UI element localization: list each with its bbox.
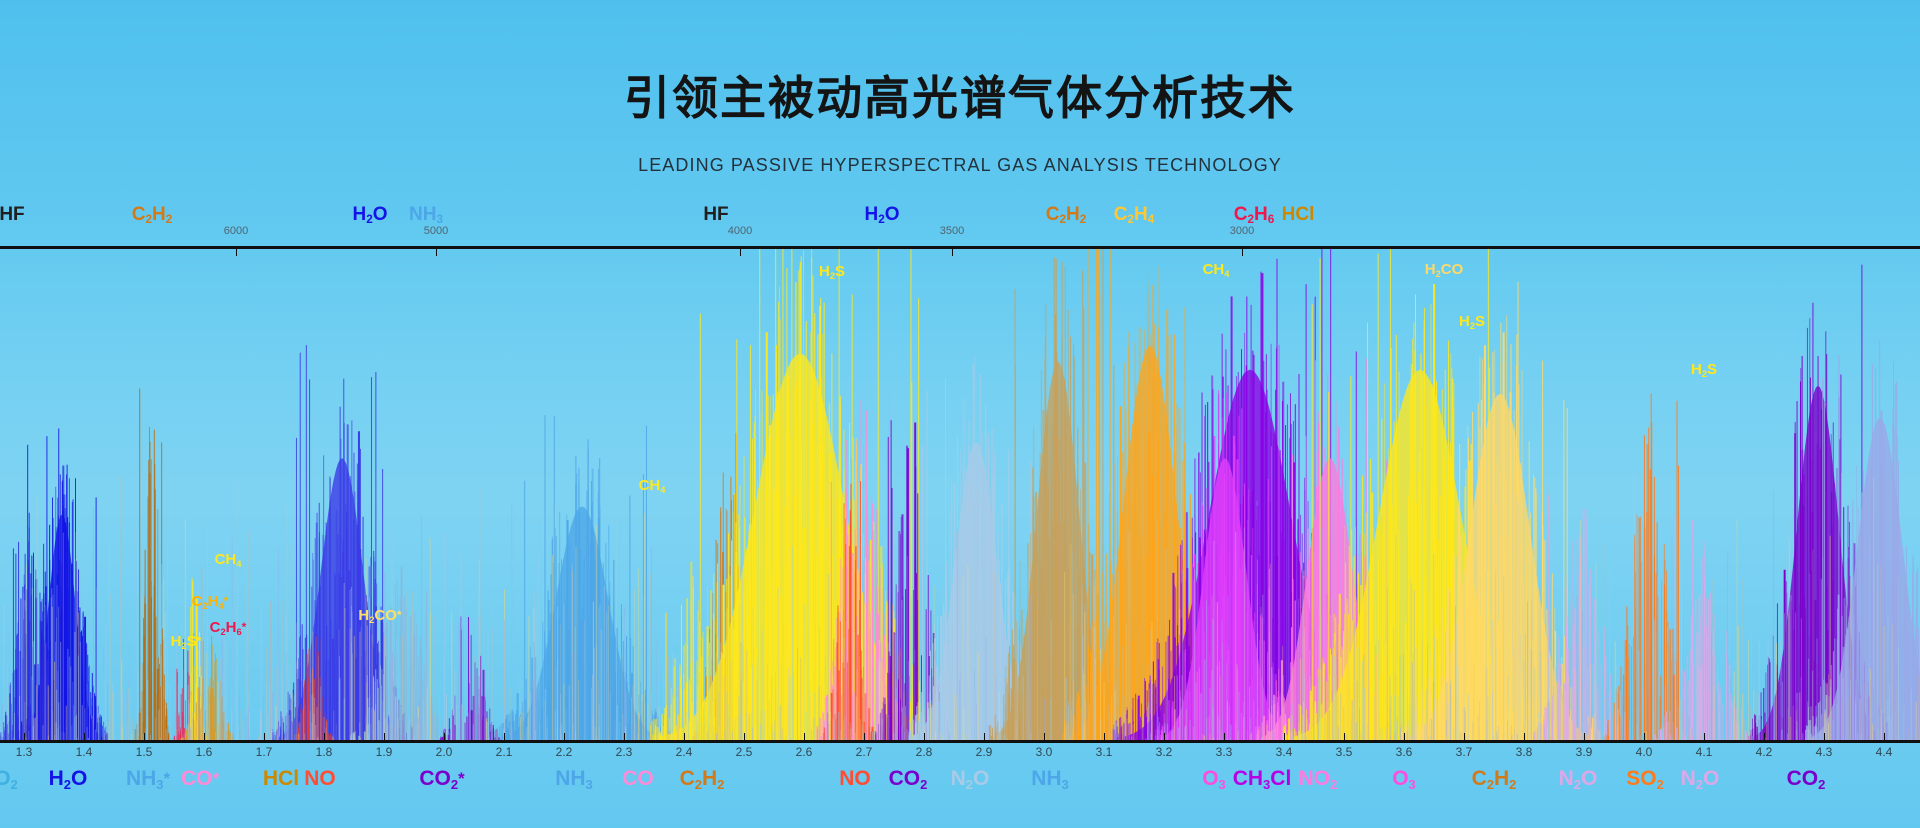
gas-label-h2co: H2CO xyxy=(1425,262,1464,277)
bottom-tick-label: 1.5 xyxy=(136,745,153,759)
gas-label-ch4: CH4 xyxy=(215,552,242,567)
bottom-tick-mark xyxy=(204,733,205,740)
top-tick-label: 6000 xyxy=(224,225,248,237)
bottom-tick-mark xyxy=(444,733,445,740)
gas-label-hcl: HCl xyxy=(1282,205,1315,224)
gas-label-co: CO* xyxy=(181,768,219,789)
bottom-tick-label: 3.7 xyxy=(1456,745,1473,759)
gas-label-no: NO xyxy=(839,768,871,789)
bottom-tick-label: 4.0 xyxy=(1636,745,1653,759)
bottom-tick-label: 4.1 xyxy=(1696,745,1713,759)
bottom-tick-label: 1.8 xyxy=(316,745,333,759)
bottom-tick-mark xyxy=(684,733,685,740)
bottom-tick-label: 2.1 xyxy=(496,745,513,759)
top-tick-label: 5000 xyxy=(424,225,448,237)
bottom-tick-label: 2.2 xyxy=(556,745,573,759)
bottom-tick-mark xyxy=(1824,733,1825,740)
bottom-tick-label: 2.8 xyxy=(916,745,933,759)
gas-label-co: CO xyxy=(622,768,654,789)
gas-label-c2h2: C2H2 xyxy=(132,205,173,224)
bottom-tick-label: 1.4 xyxy=(76,745,93,759)
gas-label-n2o: N2O xyxy=(1681,768,1720,789)
bottom-tick-mark xyxy=(1224,733,1225,740)
gas-label-h2o: H2O xyxy=(352,205,387,224)
page-title: 引领主被动高光谱气体分析技术 xyxy=(0,62,1920,128)
bottom-tick-label: 2.9 xyxy=(976,745,993,759)
gas-label-nh3: NH3* xyxy=(126,768,170,789)
spectrum-traces xyxy=(0,249,1920,740)
hyperspectral-gas-banner: 引领主被动高光谱气体分析技术 LEADING PASSIVE HYPERSPEC… xyxy=(0,0,1920,828)
bottom-tick-mark xyxy=(1044,733,1045,740)
gas-label-nh3: NH3 xyxy=(1031,768,1069,789)
bottom-tick-label: 2.7 xyxy=(856,745,873,759)
page-subtitle: LEADING PASSIVE HYPERSPECTRAL GAS ANALYS… xyxy=(0,155,1920,176)
gas-label-c2h6: C2H6 xyxy=(1234,205,1275,224)
bottom-tick-mark xyxy=(804,733,805,740)
bottom-tick-label: 2.5 xyxy=(736,745,753,759)
gas-label-o3: O3 xyxy=(1392,768,1416,789)
gas-label-co2: CO2* xyxy=(419,768,464,789)
gas-label-c2h6: C2H6* xyxy=(210,620,247,635)
bottom-tick-label: 3.6 xyxy=(1396,745,1413,759)
bottom-tick-label: 1.6 xyxy=(196,745,213,759)
bottom-tick-label: 4.3 xyxy=(1816,745,1833,759)
gas-label-n2o: N2O xyxy=(1559,768,1598,789)
gas-label-co2: CO2 xyxy=(889,768,928,789)
bottom-tick-label: 3.0 xyxy=(1036,745,1053,759)
bottom-tick-mark xyxy=(1404,733,1405,740)
bottom-tick-label: 2.0 xyxy=(436,745,453,759)
gas-label-no: NO xyxy=(304,768,336,789)
bottom-tick-mark xyxy=(1284,733,1285,740)
gas-label-so2: SO2 xyxy=(1626,768,1664,789)
gas-label-o3: O3 xyxy=(1202,768,1226,789)
bottom-tick-mark xyxy=(1164,733,1165,740)
bottom-tick-mark xyxy=(504,733,505,740)
bottom-tick-mark xyxy=(1644,733,1645,740)
gas-label-hf: HF xyxy=(703,205,728,224)
bottom-tick-mark xyxy=(624,733,625,740)
bottom-tick-label: 1.7 xyxy=(256,745,273,759)
gas-label-co2: CO2 xyxy=(1787,768,1826,789)
bottom-tick-label: 3.1 xyxy=(1096,745,1113,759)
gas-label-h2co: H2CO* xyxy=(358,608,401,623)
bottom-tick-label: 3.9 xyxy=(1576,745,1593,759)
gas-label-c2h2: C2H2 xyxy=(1046,205,1087,224)
bottom-tick-label: 4.4 xyxy=(1876,745,1893,759)
gas-label-c2h2: C2H2 xyxy=(1472,768,1517,789)
bottom-tick-label: 3.3 xyxy=(1216,745,1233,759)
gas-label-nh3: NH3 xyxy=(555,768,593,789)
gas-label-ch4: CH4 xyxy=(639,478,666,493)
gas-label-c2h4: C2H4 xyxy=(1114,205,1155,224)
bottom-tick-label: 3.5 xyxy=(1336,745,1353,759)
gas-label-h2s: H2S xyxy=(1459,314,1485,329)
gas-label-nh3: NH3 xyxy=(409,205,443,224)
spectrum-plot xyxy=(0,249,1920,740)
bottom-tick-label: 2.4 xyxy=(676,745,693,759)
bottom-tick-mark xyxy=(1884,733,1885,740)
bottom-tick-label: 2.6 xyxy=(796,745,813,759)
bottom-tick-label: 2.3 xyxy=(616,745,633,759)
gas-label-n2o: N2O xyxy=(951,768,990,789)
gas-label-c2h4: C2H4* xyxy=(192,594,229,609)
gas-label-h2o: H2O xyxy=(864,205,899,224)
gas-label-hcl: HCl xyxy=(263,768,299,789)
bottom-tick-mark xyxy=(1344,733,1345,740)
gas-label-no2: NO2 xyxy=(1299,768,1338,789)
bottom-tick-mark xyxy=(924,733,925,740)
gas-label-h2s: H2S xyxy=(819,264,845,279)
bottom-tick-mark xyxy=(1584,733,1585,740)
top-tick-label: 4000 xyxy=(728,225,752,237)
gas-label-hf: HF xyxy=(0,205,25,224)
gas-label-c2h2: C2H2 xyxy=(680,768,725,789)
gas-label-h2s: H2S* xyxy=(171,634,202,649)
bottom-tick-mark xyxy=(264,733,265,740)
bottom-tick-mark xyxy=(84,733,85,740)
bottom-tick-label: 1.9 xyxy=(376,745,393,759)
bottom-tick-mark xyxy=(864,733,865,740)
bottom-tick-mark xyxy=(1704,733,1705,740)
bottom-tick-mark xyxy=(1524,733,1525,740)
gas-label-h2o: H2O xyxy=(49,768,88,789)
bottom-tick-mark xyxy=(384,733,385,740)
bottom-tick-label: 4.2 xyxy=(1756,745,1773,759)
top-tick-label: 3000 xyxy=(1230,225,1254,237)
bottom-tick-label: 1.3 xyxy=(16,745,33,759)
bottom-tick-mark xyxy=(984,733,985,740)
gas-label-ch4: CH4 xyxy=(1203,262,1230,277)
top-tick-label: 3500 xyxy=(940,225,964,237)
bottom-tick-mark xyxy=(744,733,745,740)
bottom-tick-mark xyxy=(564,733,565,740)
banner-header: 引领主被动高光谱气体分析技术 LEADING PASSIVE HYPERSPEC… xyxy=(0,0,1920,200)
bottom-axis-line xyxy=(0,740,1920,743)
bottom-tick-mark xyxy=(1764,733,1765,740)
gas-label-o2: O2 xyxy=(0,768,18,789)
bottom-tick-label: 3.2 xyxy=(1156,745,1173,759)
bottom-tick-label: 3.4 xyxy=(1276,745,1293,759)
gas-label-h2s: H2S xyxy=(1691,362,1717,377)
bottom-tick-mark xyxy=(144,733,145,740)
bottom-tick-mark xyxy=(1464,733,1465,740)
bottom-tick-mark xyxy=(324,733,325,740)
bottom-tick-label: 3.8 xyxy=(1516,745,1533,759)
bottom-tick-mark xyxy=(1104,733,1105,740)
gas-label-ch3cl: CH3Cl xyxy=(1233,768,1292,789)
bottom-tick-mark xyxy=(24,733,25,740)
